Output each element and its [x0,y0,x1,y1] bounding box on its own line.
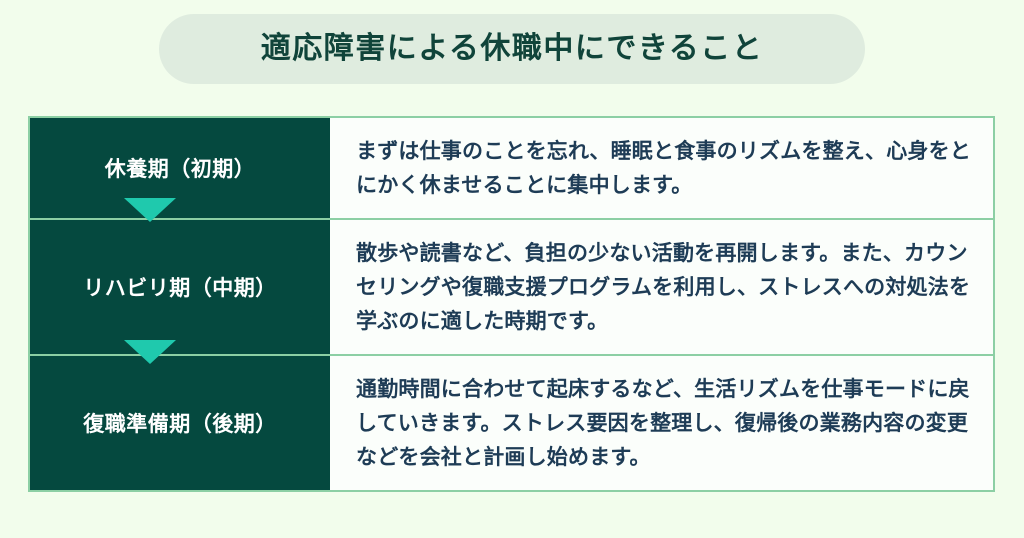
phase-description-rehab: 散歩や読書など、負担の少ない活動を再開します。また、カウンセリングや復職支援プロ… [330,220,993,354]
table-row: 復職準備期（後期） 通勤時間に合わせて起床するなど、生活リズムを仕事モードに戻し… [30,356,993,490]
title-pill: 適応障害による休職中にできること [159,14,865,84]
phase-table: 休養期（初期） まずは仕事のことを忘れ、睡眠と食事のリズムを整え、心身をとにかく… [28,116,995,492]
header: 適応障害による休職中にできること [0,14,1024,84]
page-title: 適応障害による休職中にできること [261,34,764,64]
phase-label-rehab: リハビリ期（中期） [30,220,330,354]
table-row: 休養期（初期） まずは仕事のことを忘れ、睡眠と食事のリズムを整え、心身をとにかく… [30,118,993,220]
phase-label-return-prep: 復職準備期（後期） [30,356,330,490]
phase-label-rest: 休養期（初期） [30,118,330,218]
phase-description-rest: まずは仕事のことを忘れ、睡眠と食事のリズムを整え、心身をとにかく休ませることに集… [330,118,993,218]
table-row: リハビリ期（中期） 散歩や読書など、負担の少ない活動を再開します。また、カウンセ… [30,220,993,356]
phase-description-return-prep: 通勤時間に合わせて起床するなど、生活リズムを仕事モードに戻していきます。ストレス… [330,356,993,490]
